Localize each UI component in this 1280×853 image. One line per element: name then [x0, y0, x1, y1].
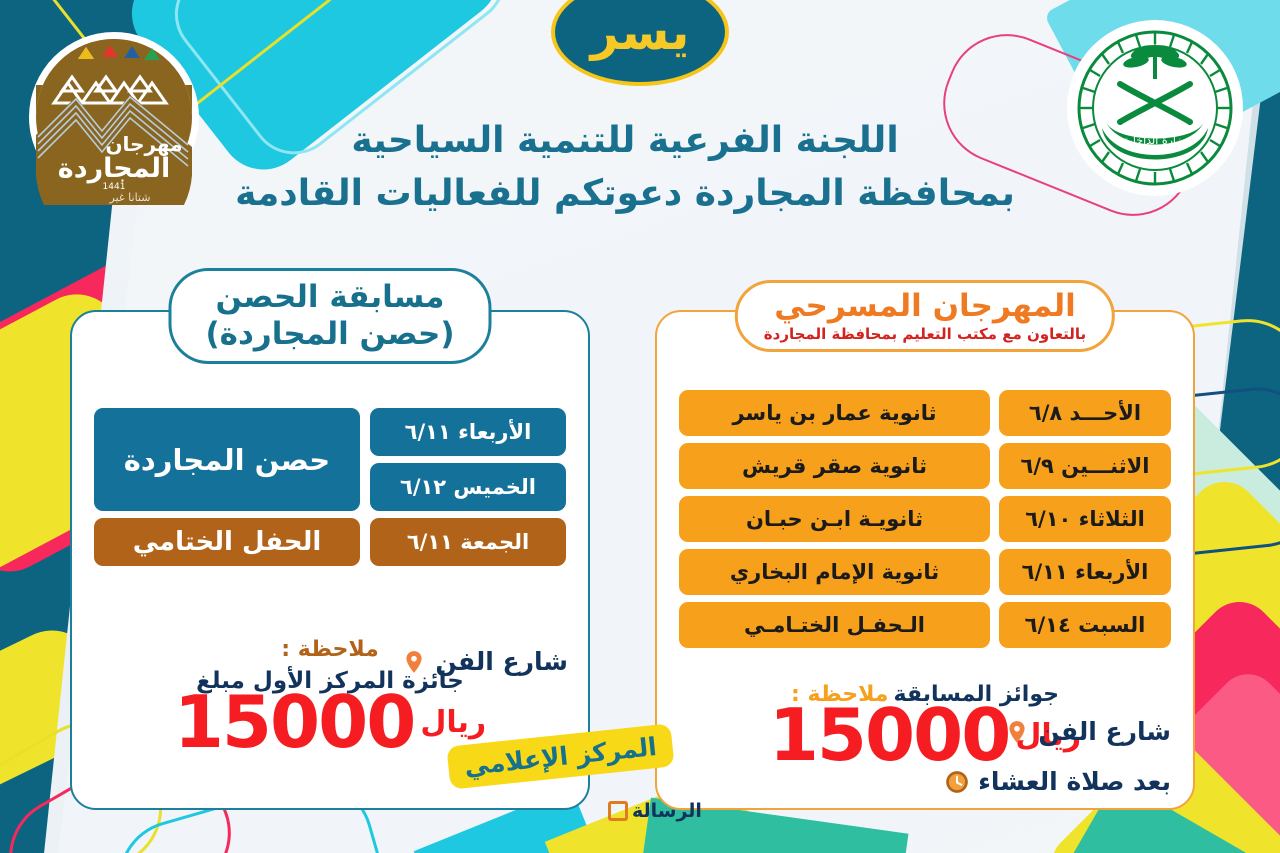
- fortress-date: الأربعاء ٦/١١: [370, 408, 566, 456]
- fortress-location: شارع الفن: [401, 647, 568, 676]
- schedule-venue: الـحفـل الختـامـي: [679, 602, 990, 648]
- schedule-date: الأحـــد ٦/٨: [999, 390, 1171, 436]
- risala-mark-icon: [608, 801, 628, 821]
- yusr-badge-label: يسر: [591, 8, 690, 57]
- table-row: الثلاثاء ٦/١٠ ثانويـة ابـن حبـان: [679, 496, 1171, 542]
- clock-icon: [944, 769, 970, 795]
- theatre-festival-title-pill: المهرجان المسرحي بالتعاون مع مكتب التعلي…: [735, 280, 1115, 352]
- theatre-location-label: شارع الفن: [1038, 717, 1171, 746]
- schedule-venue: ثانوية عمار بن ياسر: [679, 390, 990, 436]
- schedule-venue: ثانوية الإمام البخاري: [679, 549, 990, 595]
- schedule-date: الاثنـــين ٦/٩: [999, 443, 1171, 489]
- festival-logo: مهرجان المجاردة 1441 شتانا غير: [18, 25, 210, 205]
- fortress-competition-card: مسابقة الحصن (حصن المجاردة) الأربعاء ٦/١…: [70, 310, 590, 810]
- theatre-time: بعد صلاة العشاء: [944, 767, 1171, 796]
- table-row: السبت ٦/١٤ الـحفـل الختـامـي: [679, 602, 1171, 648]
- schedule-venue: ثانوية صقر قريش: [679, 443, 990, 489]
- location-pin-icon: [1004, 719, 1030, 745]
- fortress-date: الجمعة ٦/١١: [370, 518, 566, 566]
- svg-text:المجاردة: المجاردة: [58, 153, 170, 184]
- location-pin-icon: [401, 649, 427, 675]
- svg-text:وزارة الداخلية: وزارة الداخلية: [1123, 134, 1186, 147]
- fortress-schedule-table: الأربعاء ٦/١١ الخميس ٦/١٢ الجمعة ٦/١١ حص…: [94, 408, 566, 566]
- theatre-festival-subtitle: بالتعاون مع مكتب التعليم بمحافظة المجارد…: [764, 325, 1086, 343]
- fortress-prize-currency: ريال: [420, 705, 486, 740]
- theatre-festival-title: المهرجان المسرحي: [764, 289, 1086, 323]
- svg-text:شتانا غير: شتانا غير: [109, 191, 151, 204]
- theatre-prize-amount: 15000: [769, 701, 1010, 769]
- theatre-festival-card: المهرجان المسرحي بالتعاون مع مكتب التعلي…: [655, 310, 1195, 810]
- schedule-date: الثلاثاء ٦/١٠: [999, 496, 1171, 542]
- fortress-final-event: الحفل الختامي: [94, 518, 360, 566]
- table-row: الاثنـــين ٦/٩ ثانوية صقر قريش: [679, 443, 1171, 489]
- table-row: الأحـــد ٦/٨ ثانوية عمار بن ياسر: [679, 390, 1171, 436]
- schedule-venue: ثانويـة ابـن حبـان: [679, 496, 990, 542]
- schedule-date: الأربعاء ٦/١١: [999, 549, 1171, 595]
- poster-root: يسر: [0, 0, 1280, 853]
- fortress-date-column: الأربعاء ٦/١١ الخميس ٦/١٢ الجمعة ٦/١١: [370, 408, 566, 566]
- theatre-location: شارع الفن: [1004, 717, 1171, 746]
- fortress-venue-column: حصن المجاردة الحفل الختامي: [94, 408, 360, 566]
- theatre-schedule-table: الأحـــد ٦/٨ ثانوية عمار بن ياسر الاثنــ…: [679, 390, 1171, 648]
- fortress-title-pill: مسابقة الحصن (حصن المجاردة): [169, 268, 492, 364]
- fortress-title-line-2: (حصن المجاردة): [206, 316, 455, 353]
- schedule-date: السبت ٦/١٤: [999, 602, 1171, 648]
- table-row: الأربعاء ٦/١١ ثانوية الإمام البخاري: [679, 549, 1171, 595]
- headline-line-2: بمحافظة المجاردة دعوتكم للفعاليات القادم…: [230, 171, 1020, 216]
- page-title: اللجنة الفرعية للتنمية السياحية بمحافظة …: [230, 118, 1020, 216]
- risala-logo: الرسالة: [608, 800, 702, 822]
- theatre-time-label: بعد صلاة العشاء: [978, 767, 1171, 796]
- headline-line-1: اللجنة الفرعية للتنمية السياحية: [230, 118, 1020, 163]
- fortress-location-label: شارع الفن: [435, 647, 568, 676]
- risala-label: الرسالة: [632, 800, 702, 822]
- fortress-prize-amount: 15000: [174, 688, 415, 756]
- fortress-date: الخميس ٦/١٢: [370, 463, 566, 511]
- ministry-of-interior-emblem: وزارة الداخلية: [1062, 18, 1248, 200]
- fortress-merged-venue: حصن المجاردة: [94, 408, 360, 511]
- fortress-title-line-1: مسابقة الحصن: [206, 279, 455, 316]
